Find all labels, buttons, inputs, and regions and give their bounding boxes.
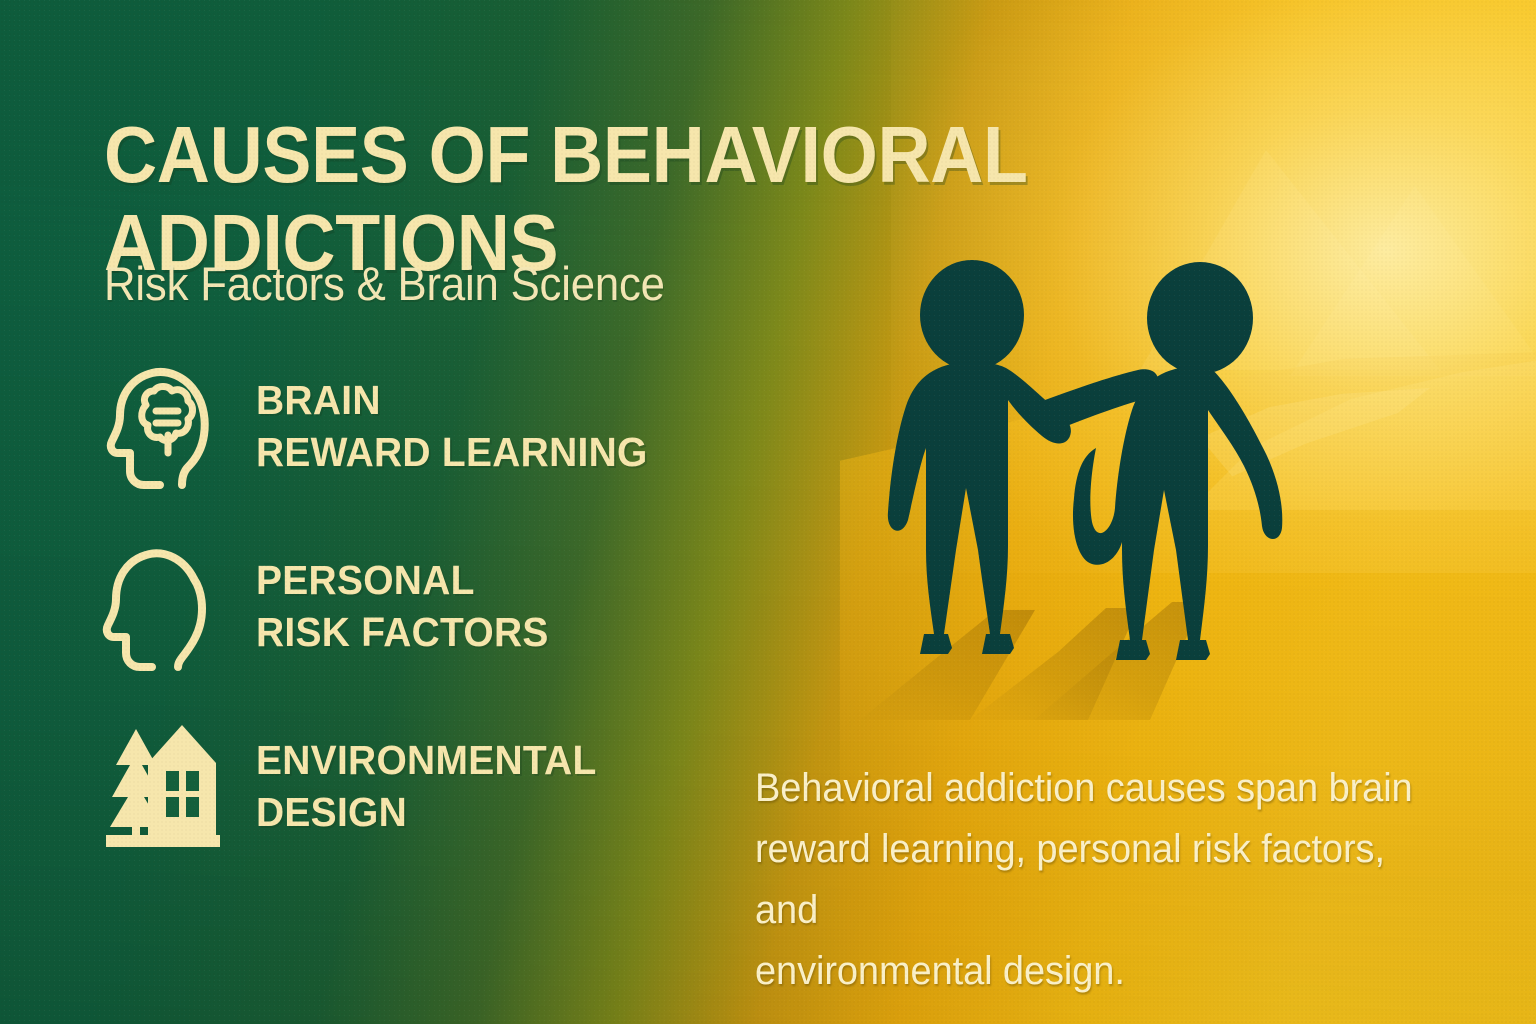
head-profile-icon <box>104 539 228 673</box>
feature-item-brain-reward-learning: BRAIN REWARD LEARNING <box>104 352 804 500</box>
feature-label: BRAIN REWARD LEARNING <box>256 374 648 478</box>
feature-item-personal-risk-factors: PERSONAL RISK FACTORS <box>104 532 804 680</box>
feature-list: BRAIN REWARD LEARNING PERSONAL RISK FACT… <box>104 352 804 892</box>
feature-label: ENVIRONMENTAL DESIGN <box>256 734 597 838</box>
feature-item-environmental-design: ENVIRONMENTAL DESIGN <box>104 712 804 860</box>
feature-label: PERSONAL RISK FACTORS <box>256 554 549 658</box>
body-paragraph: Behavioral addiction causes span brain r… <box>755 758 1439 1002</box>
tree-house-icon <box>104 719 228 853</box>
head-brain-icon <box>104 359 228 493</box>
infographic-poster: CAUSES OF BEHAVIORAL ADDICTIONS Risk Fac… <box>0 0 1536 1024</box>
page-subtitle: Risk Factors & Brain Science <box>104 258 665 310</box>
